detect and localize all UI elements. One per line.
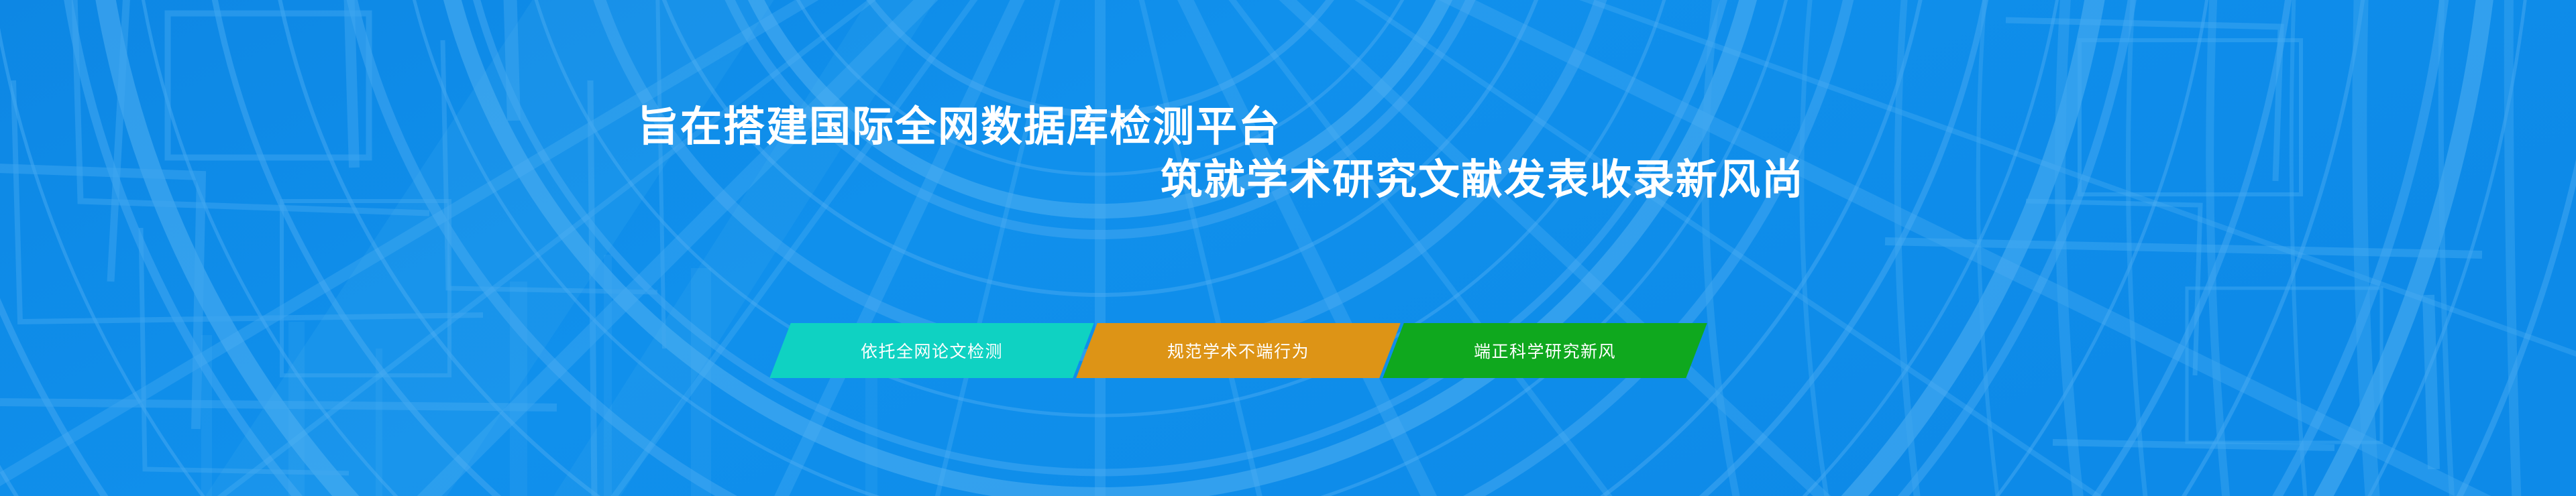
feature-tag-1[interactable]: 依托全网论文检测 [769,323,1093,378]
feature-tag-row: 依托全网论文检测 规范学术不端行为 端正科学研究新风 [780,323,1697,378]
promo-banner: 旨在搭建国际全网数据库检测平台 筑就学术研究文献发表收录新风尚 依托全网论文检测… [0,0,2576,496]
headline-line-2: 筑就学术研究文献发表收录新风尚 [0,153,1811,206]
feature-tag-2-label: 规范学术不端行为 [1167,338,1309,363]
headline-block: 旨在搭建国际全网数据库检测平台 筑就学术研究文献发表收录新风尚 [0,101,1811,207]
headline-line-1: 旨在搭建国际全网数据库检测平台 [0,101,1811,153]
background-tech-pattern [0,0,2576,496]
feature-tag-3[interactable]: 端正科学研究新风 [1383,323,1707,378]
feature-tag-3-label: 端正科学研究新风 [1474,338,1616,363]
feature-tag-1-label: 依托全网论文检测 [861,338,1003,363]
feature-tag-2[interactable]: 规范学术不端行为 [1076,323,1400,378]
